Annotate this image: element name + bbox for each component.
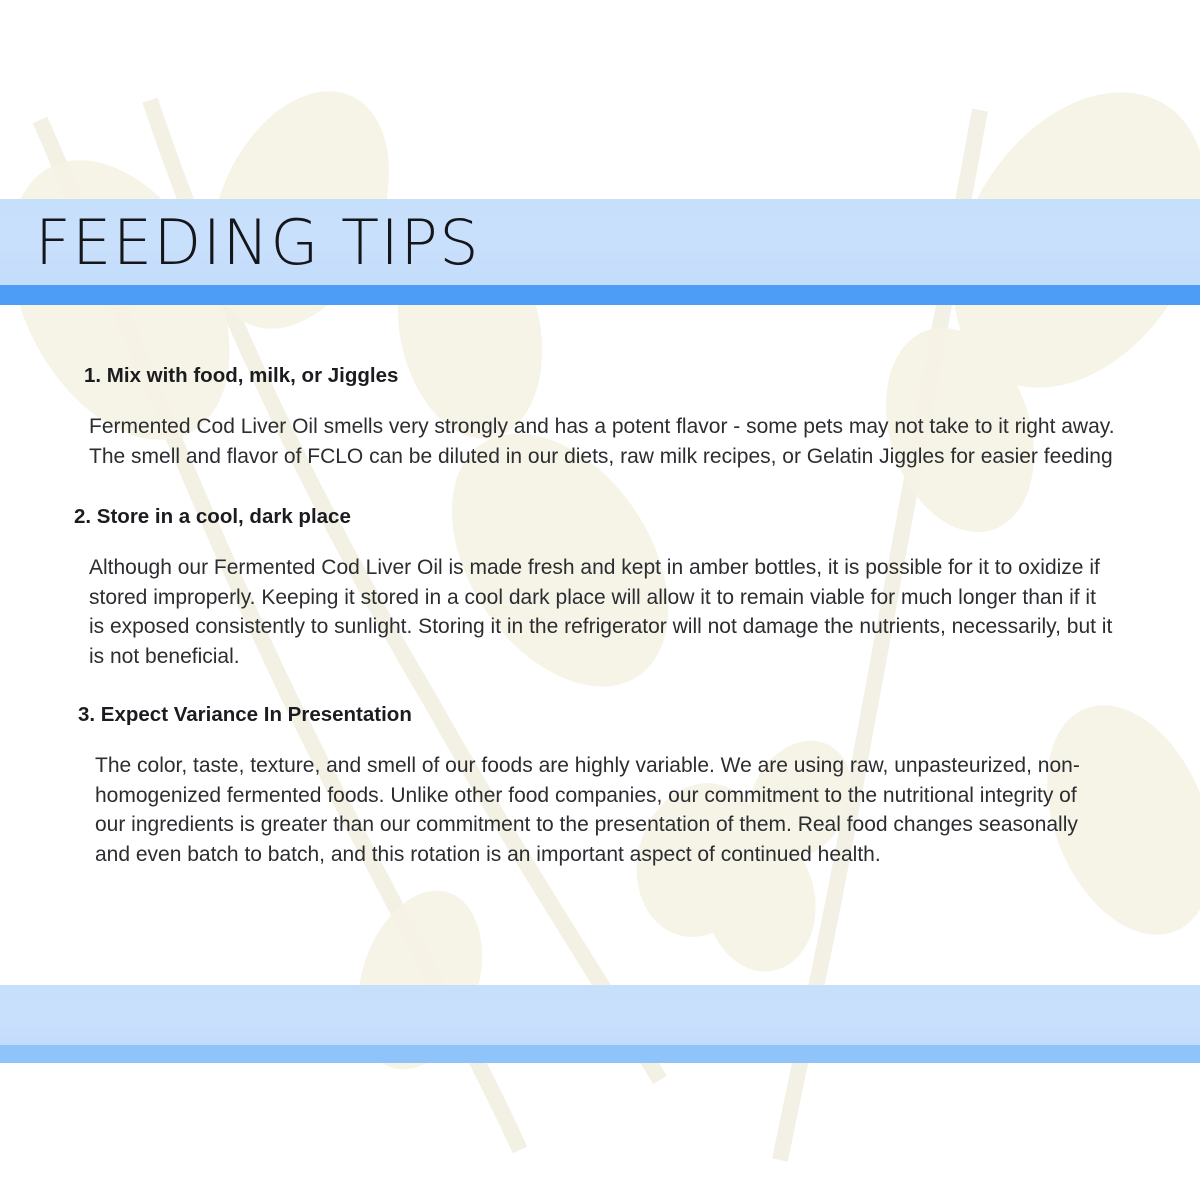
tip-item-1: 1. Mix with food, milk, or Jiggles Ferme… xyxy=(0,362,1200,471)
tip-1-heading: 1. Mix with food, milk, or Jiggles xyxy=(84,362,1200,390)
tip-item-3: 3. Expect Variance In Presentation The c… xyxy=(0,701,1200,869)
header-accent-rule xyxy=(0,285,1200,305)
slide-canvas: FEEDING TIPS 1. Mix with food, milk, or … xyxy=(0,0,1200,1200)
tip-1-body: Fermented Cod Liver Oil smells very stro… xyxy=(89,412,1119,471)
page-title: FEEDING TIPS xyxy=(35,206,480,280)
tips-list: 1. Mix with food, milk, or Jiggles Ferme… xyxy=(0,362,1200,869)
tip-item-2: 2. Store in a cool, dark place Although … xyxy=(0,503,1200,671)
tip-3-body: The color, taste, texture, and smell of … xyxy=(95,751,1095,869)
tip-3-heading: 3. Expect Variance In Presentation xyxy=(78,701,1200,729)
footer-accent-rule xyxy=(0,1045,1200,1063)
footer-band xyxy=(0,985,1200,1045)
tip-2-heading: 2. Store in a cool, dark place xyxy=(74,503,1200,531)
tip-2-body: Although our Fermented Cod Liver Oil is … xyxy=(89,553,1114,671)
